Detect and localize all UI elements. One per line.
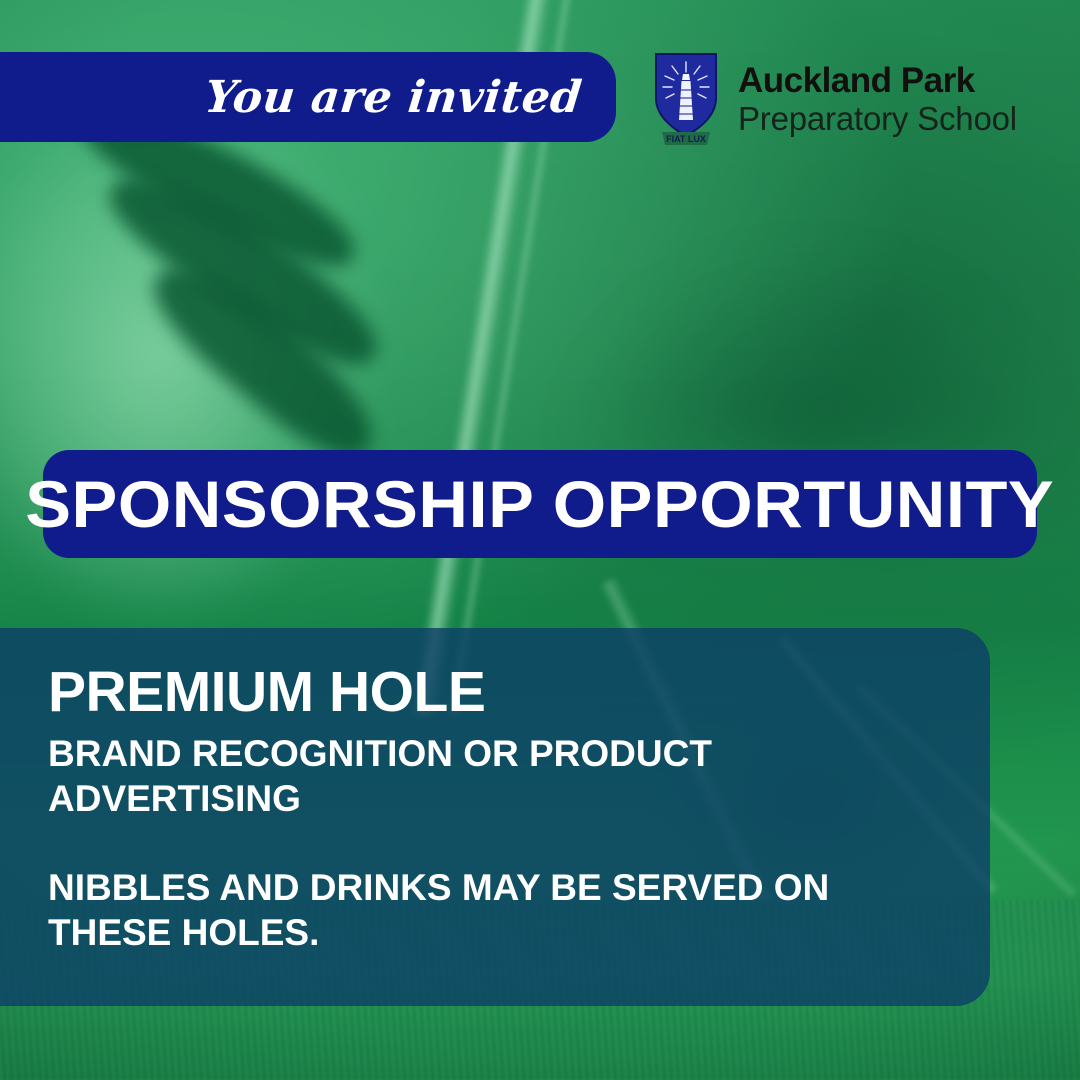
school-name-line1: Auckland Park: [738, 63, 1017, 98]
tier-subheading: BRAND RECOGNITION OR PRODUCT ADVERTISING: [48, 731, 838, 821]
crest-motto: FIAT LUX: [666, 134, 706, 144]
school-name: Auckland Park Preparatory School: [738, 63, 1017, 135]
page-title: SPONSORSHIP OPPORTUNITY: [25, 466, 1054, 542]
sponsorship-poster: You are invited: [0, 0, 1080, 1080]
title-banner: SPONSORSHIP OPPORTUNITY: [43, 450, 1037, 558]
invited-label: You are invited: [202, 72, 584, 123]
invited-banner: You are invited: [0, 52, 616, 142]
tier-heading: PREMIUM HOLE: [48, 664, 950, 721]
lighthouse-shield-crest-icon: FIAT LUX: [648, 50, 724, 148]
school-name-line2: Preparatory School: [738, 102, 1017, 135]
school-logo: FIAT LUX Auckland Park Preparatory Schoo…: [648, 50, 1017, 148]
tier-note: NIBBLES AND DRINKS MAY BE SERVED ON THES…: [48, 865, 950, 955]
sponsorship-details-panel: PREMIUM HOLE BRAND RECOGNITION OR PRODUC…: [0, 628, 990, 1006]
